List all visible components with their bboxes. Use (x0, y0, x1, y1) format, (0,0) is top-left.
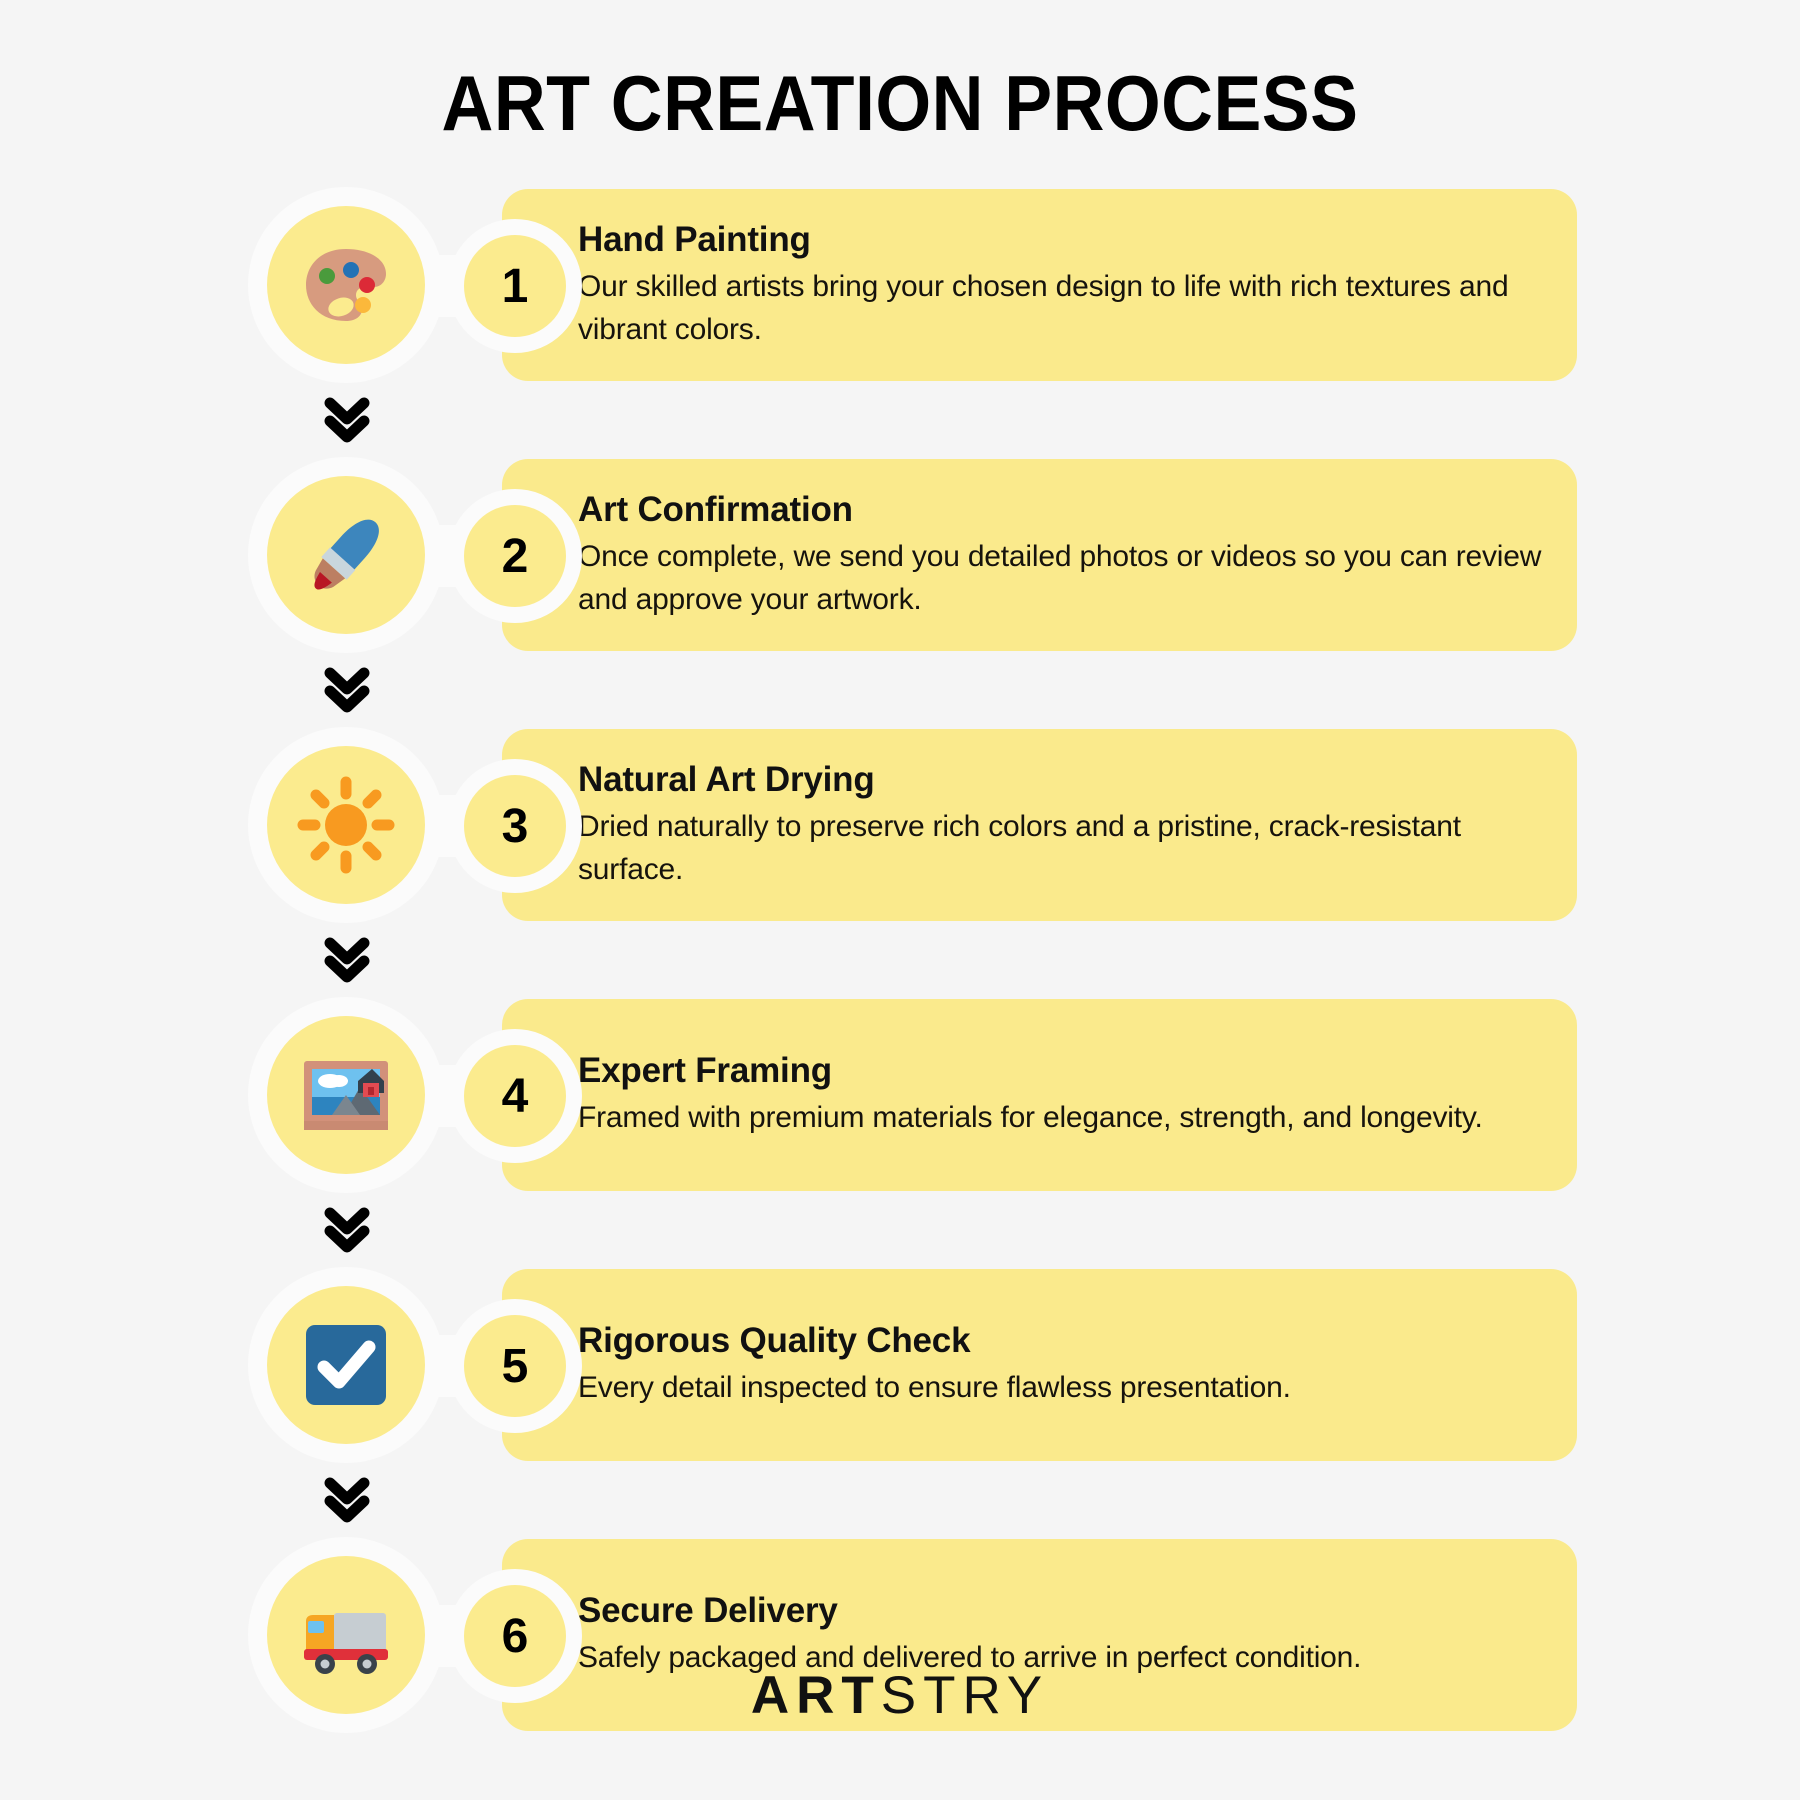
step-number: 5 (464, 1315, 566, 1417)
step-separator-2 (248, 651, 1800, 729)
step-description: Our skilled artists bring your chosen de… (578, 266, 1543, 351)
step-card-5[interactable]: Rigorous Quality Check Every detail insp… (502, 1269, 1577, 1461)
step-icon-ring-1 (248, 187, 444, 383)
step-number: 6 (464, 1585, 566, 1687)
process-steps-list: Hand Painting Our skilled artists bring … (0, 189, 1800, 1731)
step-description: Dried naturally to preserve rich colors … (578, 806, 1543, 891)
step-icon-ring-6 (248, 1537, 444, 1733)
process-step-3[interactable]: Natural Art Drying Dried naturally to pr… (248, 729, 1800, 921)
step-title: Expert Framing (578, 1050, 1543, 1091)
step-separator-5 (248, 1461, 1800, 1539)
step-number: 2 (464, 505, 566, 607)
step-separator-1 (248, 381, 1800, 459)
page-title: ART CREATION PROCESS (72, 0, 1728, 149)
step-description: Once complete, we send you detailed phot… (578, 536, 1543, 621)
step-separator-4 (248, 1191, 1800, 1269)
framed-picture-icon (267, 1016, 425, 1174)
step-card-2[interactable]: Art Confirmation Once complete, we send … (502, 459, 1577, 651)
check-mark-icon (267, 1286, 425, 1444)
double-chevron-down-icon (318, 659, 376, 722)
step-number-ring-5: 5 (448, 1299, 582, 1433)
step-number-ring-2: 2 (448, 489, 582, 623)
step-card-4[interactable]: Expert Framing Framed with premium mater… (502, 999, 1577, 1191)
step-number-ring-4: 4 (448, 1029, 582, 1163)
step-number-ring-6: 6 (448, 1569, 582, 1703)
double-chevron-down-icon (318, 1199, 376, 1262)
brand-logo-light: STRY (881, 1666, 1049, 1725)
double-chevron-down-icon (318, 929, 376, 992)
delivery-truck-icon (267, 1556, 425, 1714)
double-chevron-down-icon (318, 389, 376, 452)
paintbrush-icon (267, 476, 425, 634)
brand-logo-bold: ART (751, 1666, 881, 1725)
step-title: Natural Art Drying (578, 759, 1543, 800)
step-number-ring-3: 3 (448, 759, 582, 893)
step-icon-ring-4 (248, 997, 444, 1193)
step-title: Hand Painting (578, 219, 1543, 260)
process-step-2[interactable]: Art Confirmation Once complete, we send … (248, 459, 1800, 651)
process-step-4[interactable]: Expert Framing Framed with premium mater… (248, 999, 1800, 1191)
palette-icon (267, 206, 425, 364)
step-number: 3 (464, 775, 566, 877)
step-title: Art Confirmation (578, 489, 1543, 530)
step-card-1[interactable]: Hand Painting Our skilled artists bring … (502, 189, 1577, 381)
step-description: Every detail inspected to ensure flawles… (578, 1367, 1543, 1410)
process-step-1[interactable]: Hand Painting Our skilled artists bring … (248, 189, 1800, 381)
step-description: Framed with premium materials for elegan… (578, 1097, 1543, 1140)
step-title: Secure Delivery (578, 1590, 1543, 1631)
step-title: Rigorous Quality Check (578, 1320, 1543, 1361)
step-icon-ring-5 (248, 1267, 444, 1463)
double-chevron-down-icon (318, 1469, 376, 1532)
step-number-ring-1: 1 (448, 219, 582, 353)
step-number: 4 (464, 1045, 566, 1147)
brand-logo: ARTSTRY (751, 1665, 1049, 1726)
sun-icon (267, 746, 425, 904)
step-number: 1 (464, 235, 566, 337)
step-icon-ring-3 (248, 727, 444, 923)
step-separator-3 (248, 921, 1800, 999)
process-step-5[interactable]: Rigorous Quality Check Every detail insp… (248, 1269, 1800, 1461)
step-icon-ring-2 (248, 457, 444, 653)
step-card-3[interactable]: Natural Art Drying Dried naturally to pr… (502, 729, 1577, 921)
